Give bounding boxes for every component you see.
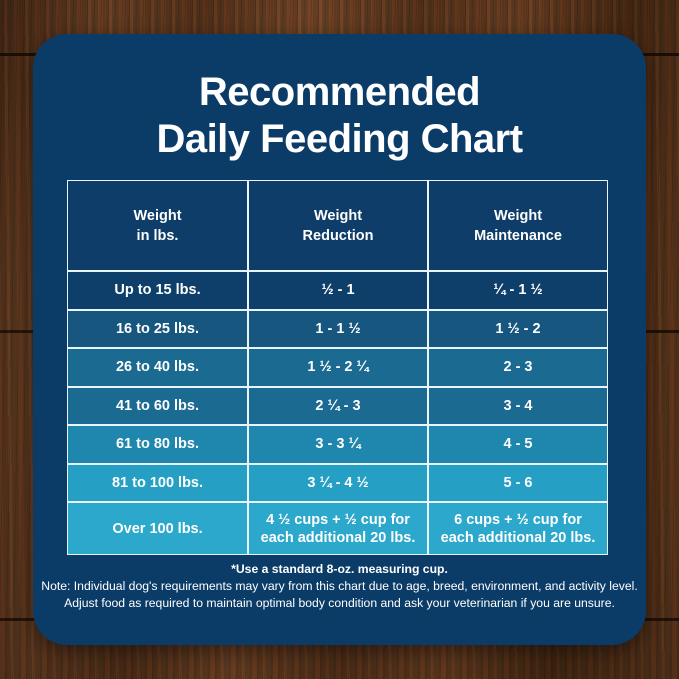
table-row: 61 to 80 lbs. 3 - 3 ¼ 4 - 5 <box>67 425 608 464</box>
cell-reduction: 3 - 3 ¼ <box>248 425 428 464</box>
cell-weight: 81 to 100 lbs. <box>67 464 248 503</box>
table-row: 16 to 25 lbs. 1 - 1 ½ 1 ½ - 2 <box>67 310 608 349</box>
table-header: Weight in lbs. Weight Reduction Weight M… <box>67 180 608 271</box>
title-line-2: Daily Feeding Chart <box>33 116 646 163</box>
table-header-row: Weight in lbs. Weight Reduction Weight M… <box>67 180 608 271</box>
cell-maintenance: 1 ½ - 2 <box>428 310 608 349</box>
cell-maintenance: ¼ - 1 ½ <box>428 271 608 310</box>
measuring-cup-note: *Use a standard 8-oz. measuring cup. <box>33 561 646 578</box>
cell-maintenance: 6 cups + ½ cup for each additional 20 lb… <box>428 502 608 555</box>
cell-weight: 26 to 40 lbs. <box>67 348 248 387</box>
chart-title: Recommended Daily Feeding Chart <box>33 34 646 163</box>
cell-maintenance-line2: each additional 20 lbs. <box>441 530 596 546</box>
table-row: 41 to 60 lbs. 2 ¼ - 3 3 - 4 <box>67 387 608 426</box>
cell-maintenance-line1: 6 cups + ½ cup for <box>454 512 582 528</box>
cell-reduction: 1 ½ - 2 ¼ <box>248 348 428 387</box>
cell-maintenance: 3 - 4 <box>428 387 608 426</box>
table-row: Up to 15 lbs. ½ - 1 ¼ - 1 ½ <box>67 271 608 310</box>
cell-maintenance: 2 - 3 <box>428 348 608 387</box>
cell-maintenance: 5 - 6 <box>428 464 608 503</box>
cell-reduction-line2: each additional 20 lbs. <box>261 530 416 546</box>
table-row: Over 100 lbs. 4 ½ cups + ½ cup for each … <box>67 502 608 555</box>
note-line-1: Note: Individual dog's requirements may … <box>33 578 646 595</box>
column-header-weight: Weight in lbs. <box>67 180 248 271</box>
note-line-2: Adjust food as required to maintain opti… <box>33 595 646 612</box>
column-header-maintenance: Weight Maintenance <box>428 180 608 271</box>
column-header-weight-line2: in lbs. <box>74 226 241 246</box>
cell-weight: 61 to 80 lbs. <box>67 425 248 464</box>
column-header-reduction: Weight Reduction <box>248 180 428 271</box>
column-header-maintenance-line2: Maintenance <box>435 226 601 246</box>
cell-weight: 16 to 25 lbs. <box>67 310 248 349</box>
feeding-chart-card: Recommended Daily Feeding Chart Weight i… <box>33 34 646 645</box>
footnotes: *Use a standard 8-oz. measuring cup. Not… <box>33 561 646 612</box>
column-header-maintenance-line1: Weight <box>435 206 601 226</box>
table-body: Up to 15 lbs. ½ - 1 ¼ - 1 ½ 16 to 25 lbs… <box>67 271 608 555</box>
cell-weight: Up to 15 lbs. <box>67 271 248 310</box>
cell-reduction: 4 ½ cups + ½ cup for each additional 20 … <box>248 502 428 555</box>
title-line-1: Recommended <box>33 69 646 116</box>
column-header-weight-line1: Weight <box>74 206 241 226</box>
cell-reduction: ½ - 1 <box>248 271 428 310</box>
cell-reduction: 1 - 1 ½ <box>248 310 428 349</box>
cell-reduction-line1: 4 ½ cups + ½ cup for <box>266 512 410 528</box>
cell-reduction: 2 ¼ - 3 <box>248 387 428 426</box>
column-header-reduction-line1: Weight <box>255 206 421 226</box>
column-header-reduction-line2: Reduction <box>255 226 421 246</box>
feeding-table: Weight in lbs. Weight Reduction Weight M… <box>67 180 608 555</box>
cell-weight: 41 to 60 lbs. <box>67 387 248 426</box>
cell-weight: Over 100 lbs. <box>67 502 248 555</box>
cell-maintenance: 4 - 5 <box>428 425 608 464</box>
cell-reduction: 3 ¼ - 4 ½ <box>248 464 428 503</box>
table-row: 81 to 100 lbs. 3 ¼ - 4 ½ 5 - 6 <box>67 464 608 503</box>
table-row: 26 to 40 lbs. 1 ½ - 2 ¼ 2 - 3 <box>67 348 608 387</box>
